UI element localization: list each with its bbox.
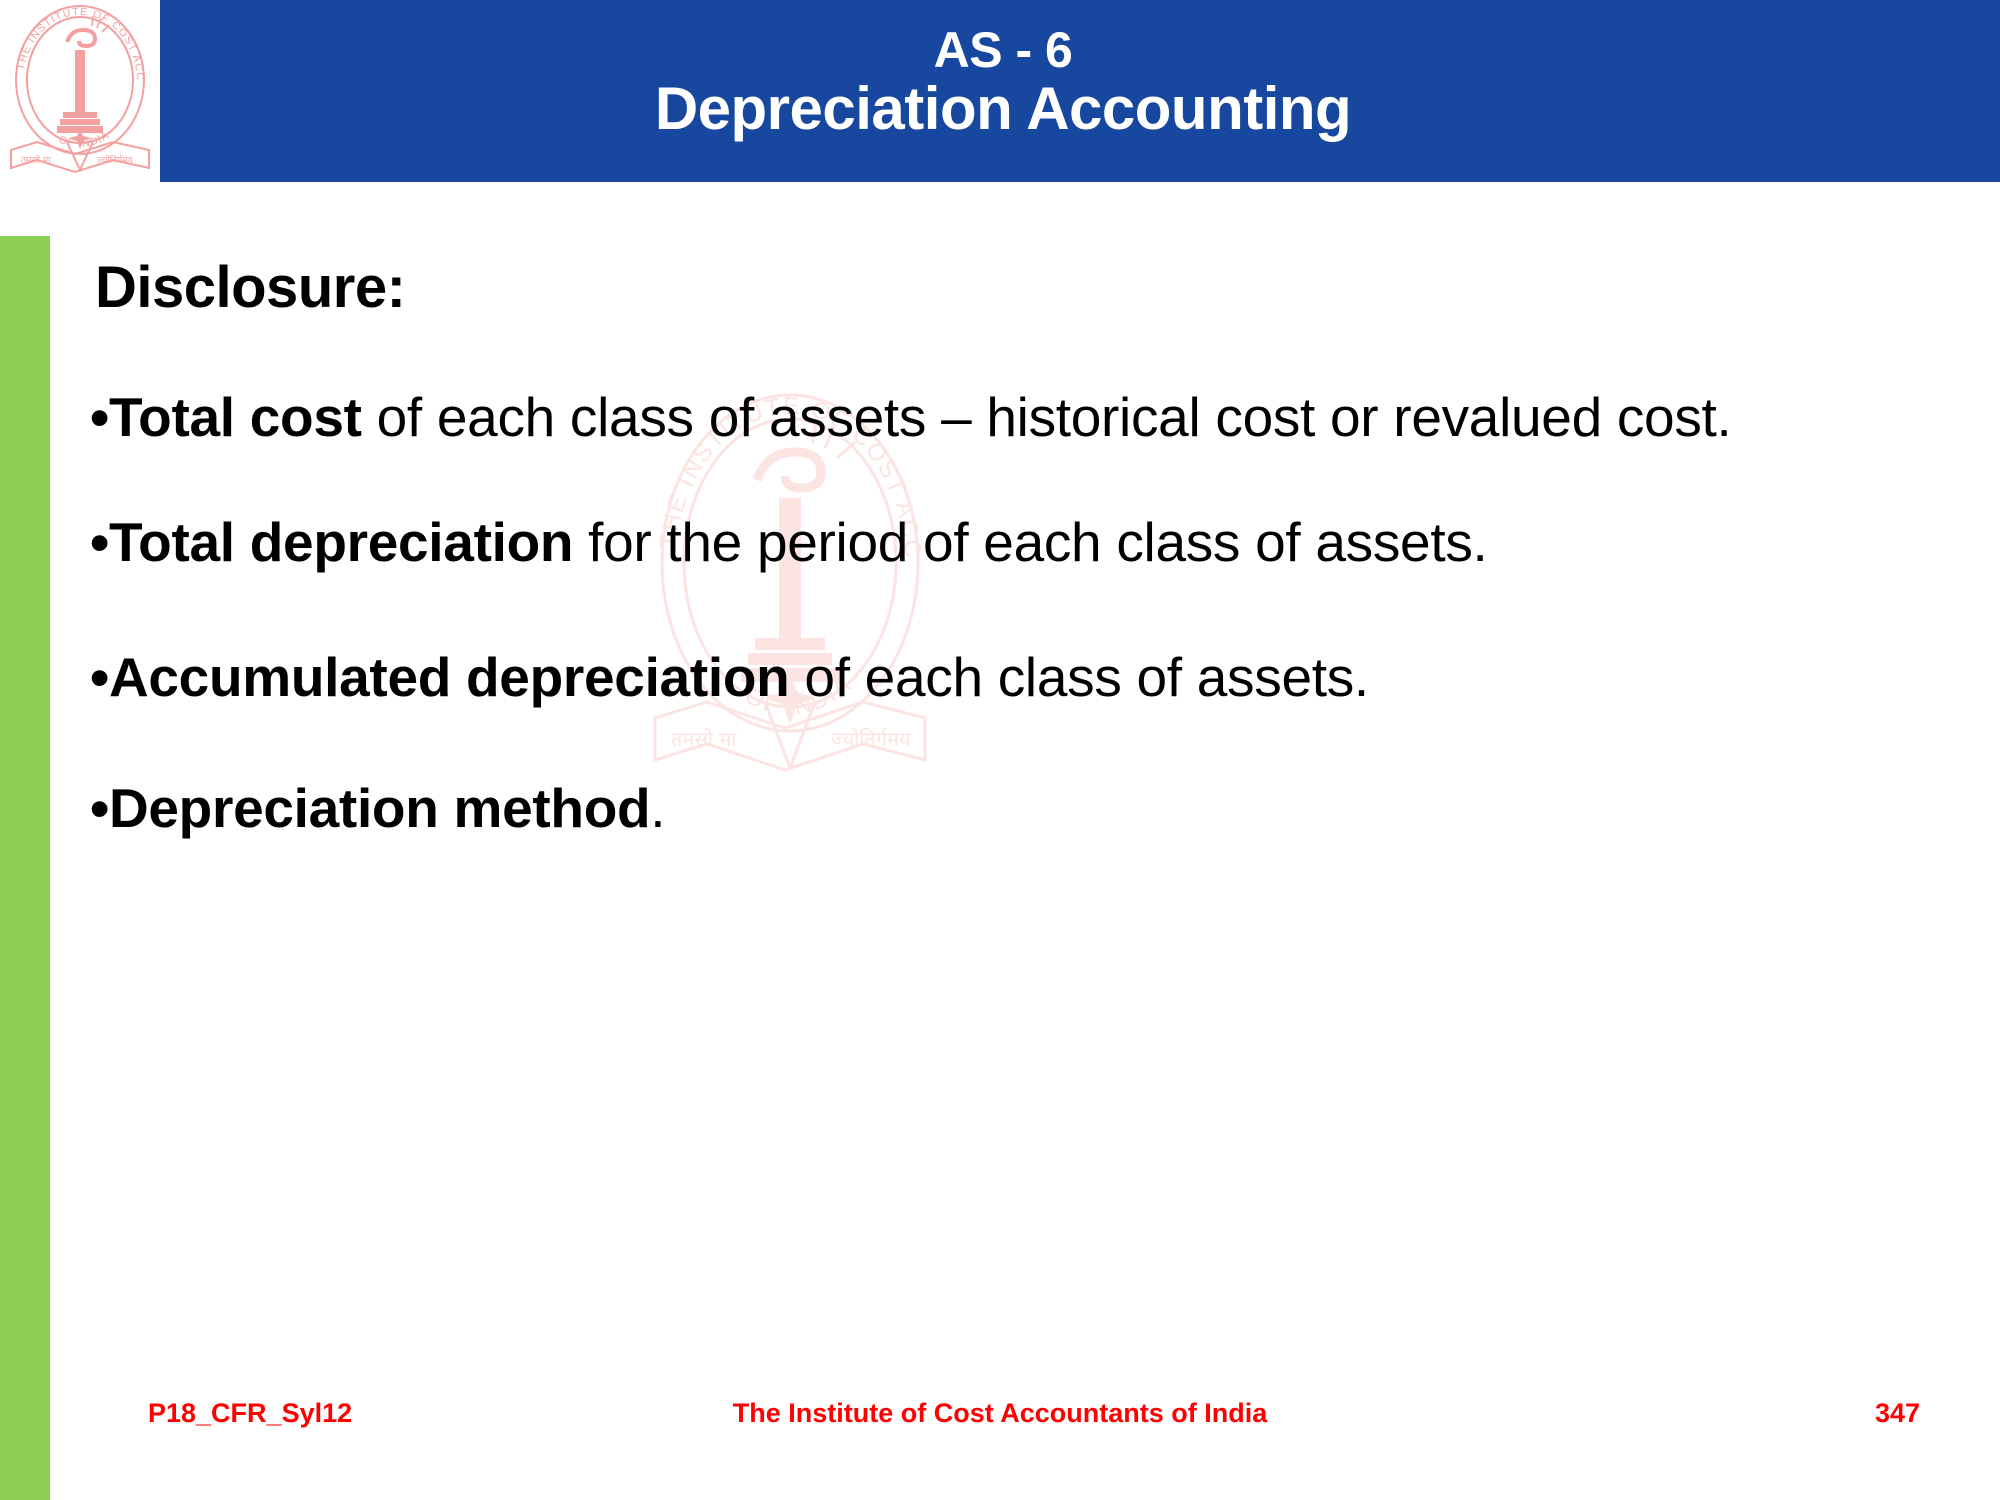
bullet-item-1: •Total cost of each class of assets – hi… [90, 385, 1850, 450]
bullet-item-3: •Accumulated depreciation of each class … [90, 645, 1880, 710]
bullet-marker: • [90, 777, 109, 839]
bullet-item-4: •Depreciation method. [90, 776, 1790, 841]
bullet-item-2: •Total depreciation for the period of ea… [90, 510, 1835, 575]
left-accent-bar [0, 236, 50, 1500]
bullet-2-rest: for the period of each class of assets. [573, 511, 1487, 573]
bullet-marker: • [90, 511, 109, 573]
bullet-1-bold: Total cost [109, 386, 362, 448]
bullet-1-rest: of each class of assets – historical cos… [362, 386, 1732, 448]
bullet-4-bold: Depreciation method [109, 777, 650, 839]
slide: AS - 6 Depreciation Accounting [0, 0, 2000, 1500]
bullet-4-rest: . [650, 777, 665, 839]
footer-institute: The Institute of Cost Accountants of Ind… [0, 1398, 2000, 1429]
svg-text:ज्योतिर्गमय: ज्योतिर्गमय [97, 154, 134, 166]
body-heading: Disclosure: [95, 258, 1940, 319]
slide-title-line2: Depreciation Accounting [133, 77, 1873, 141]
bullet-2-bold: Total depreciation [109, 511, 573, 573]
bullet-3-bold: Accumulated depreciation [109, 646, 789, 708]
icai-logo: तमसो मा ज्योतिर्गमय THE INSTITUTE OF COS… [0, 0, 160, 182]
slide-title: AS - 6 Depreciation Accounting [133, 24, 1873, 141]
svg-text:तमसो मा: तमसो मा [21, 154, 51, 166]
slide-title-line1: AS - 6 [133, 24, 1873, 77]
slide-footer: P18_CFR_Syl12 The Institute of Cost Acco… [0, 1398, 2000, 1448]
bullet-marker: • [90, 386, 109, 448]
slide-body: Disclosure: •Total cost of each class of… [90, 258, 1940, 1338]
bullet-3-rest: of each class of assets. [789, 646, 1368, 708]
footer-page-number: 347 [1875, 1398, 1920, 1429]
bullet-marker: • [90, 646, 109, 708]
